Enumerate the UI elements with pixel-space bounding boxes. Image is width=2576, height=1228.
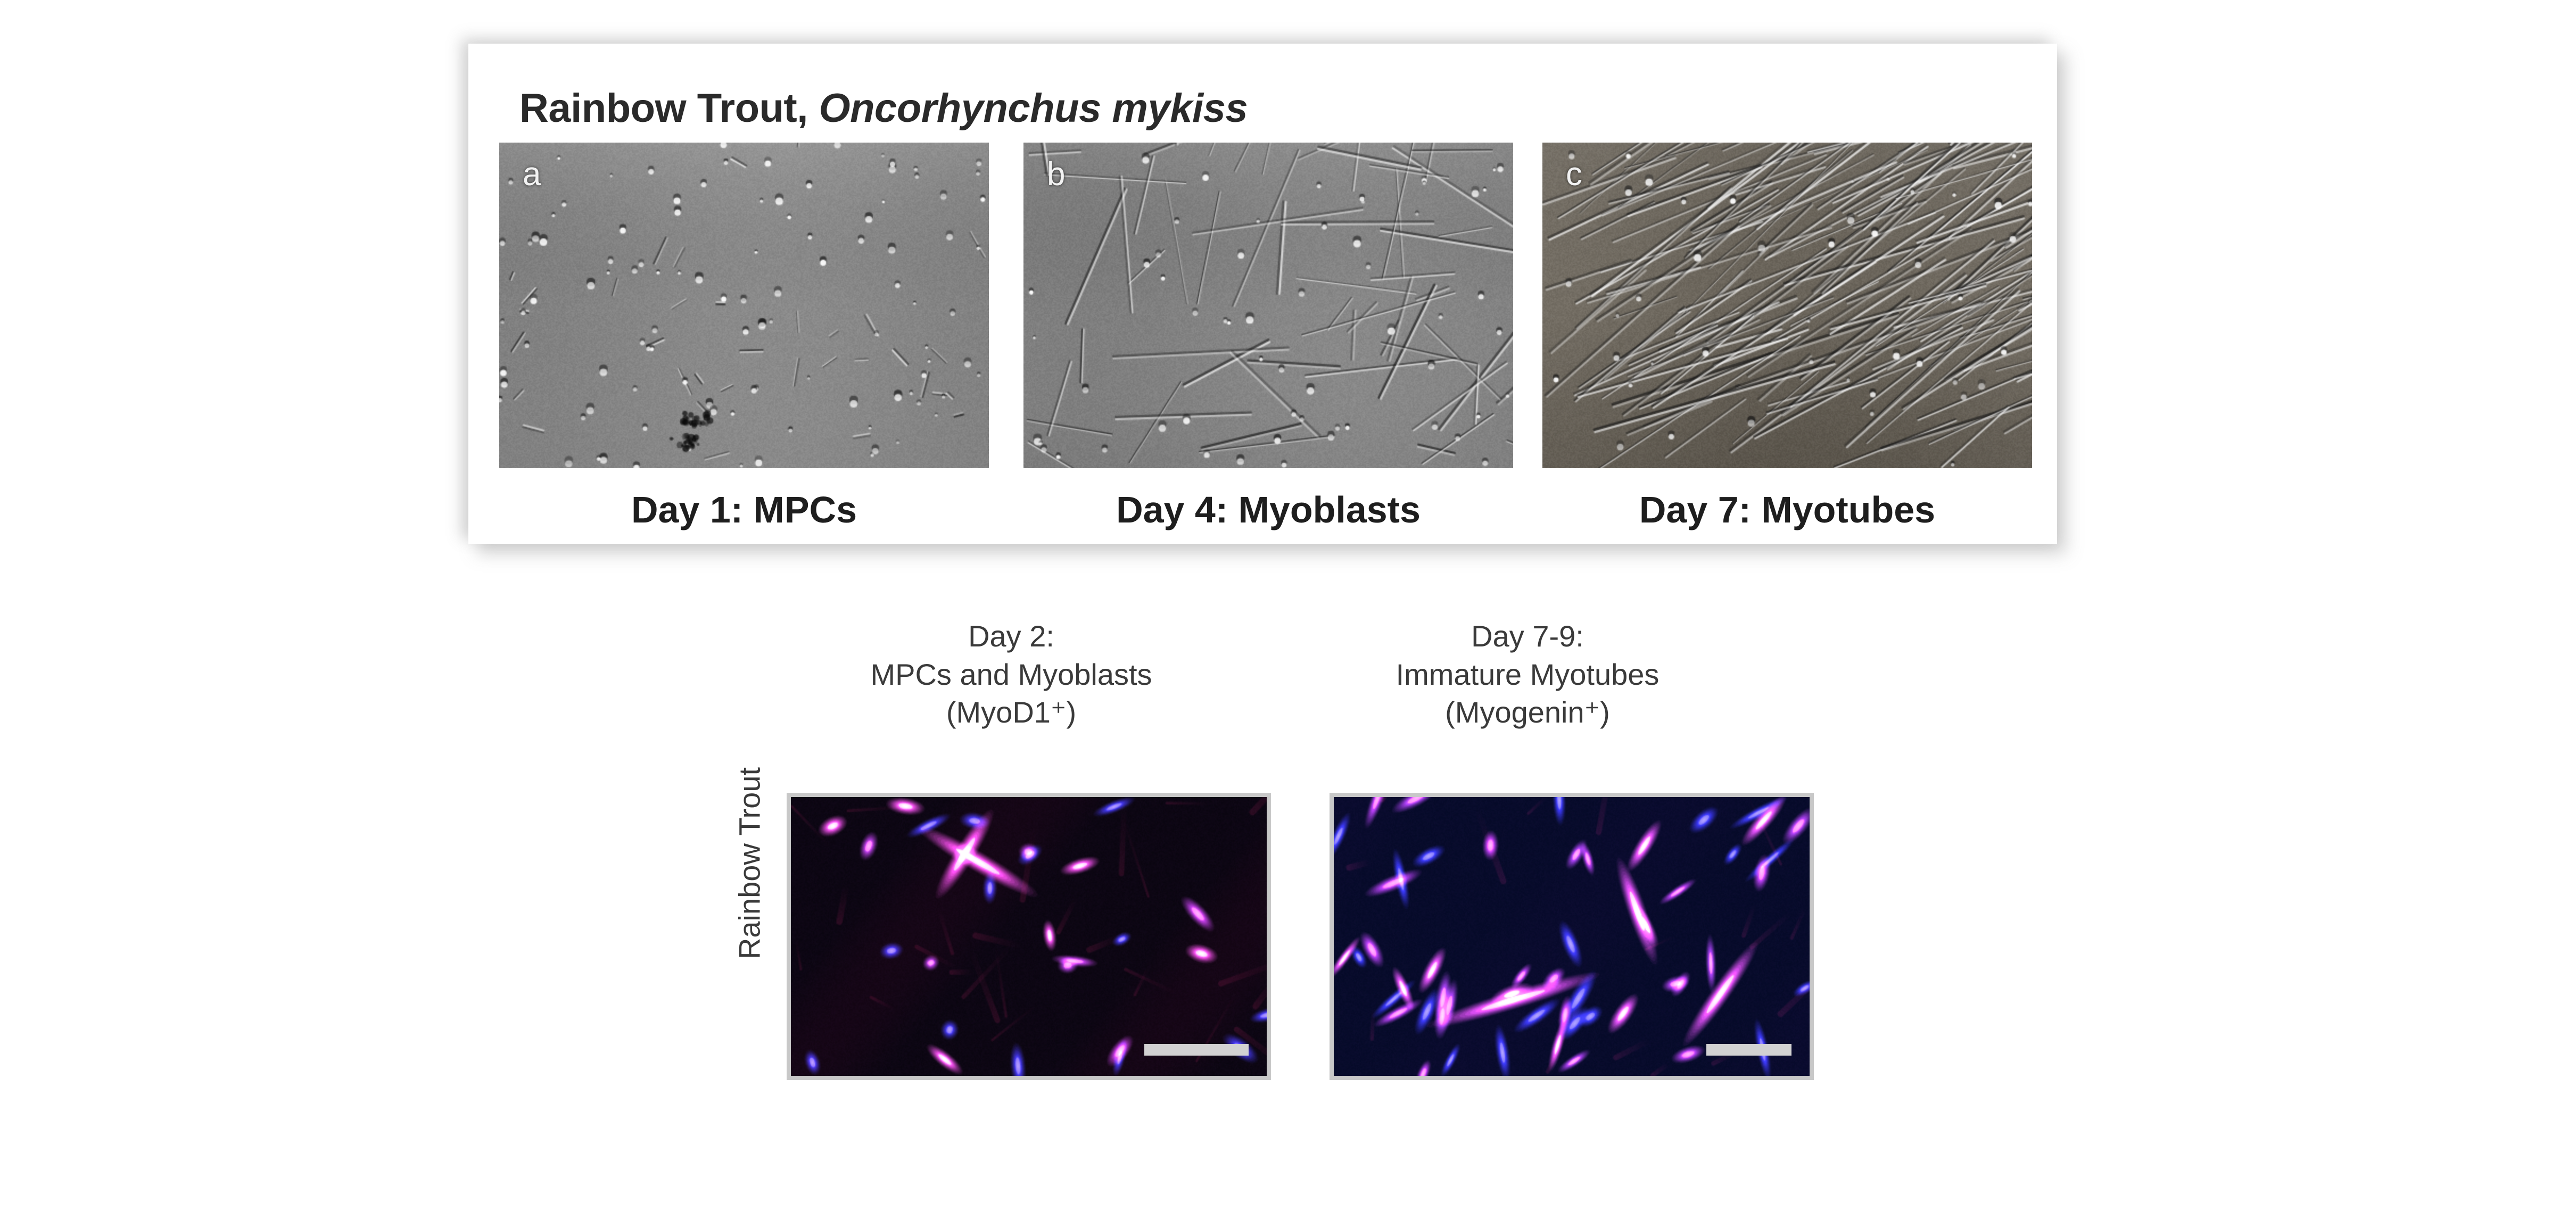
micrograph-panel-a: a: [499, 143, 989, 468]
scale-bar-myod1: [1144, 1044, 1249, 1056]
heading-day-7-9-line1: Day 7-9:: [1267, 617, 1788, 656]
card-title-species-name: Oncorhynchus mykiss: [819, 86, 1248, 131]
heading-day-7-9: Day 7-9: Immature Myotubes (Myogenin⁺): [1267, 617, 1788, 732]
heading-day-2-line1: Day 2:: [750, 617, 1272, 656]
panel-letter-c: c: [1566, 155, 1582, 193]
heading-day-2-marker: (MyoD1⁺): [750, 693, 1272, 732]
fluorescence-image-myod1: [791, 797, 1267, 1076]
card-title: Rainbow Trout, Oncorhynchus mykiss: [519, 85, 1248, 131]
fluorescence-image-myod1-wrapper: [791, 797, 1267, 1076]
heading-day-7-9-line2: Immature Myotubes: [1267, 656, 1788, 694]
card-title-common-name: Rainbow Trout,: [519, 86, 819, 131]
panel-letter-b: b: [1047, 155, 1065, 193]
micrograph-image-c: [1542, 143, 2032, 468]
micrograph-image-b: [1023, 143, 1513, 468]
fluorescence-panel-myogenin: [1330, 793, 1814, 1080]
fluorescence-image-myogenin-wrapper: [1334, 797, 1810, 1076]
caption-day-4: Day 4: Myoblasts: [1023, 488, 1513, 531]
panel-letter-a: a: [523, 155, 541, 193]
micrograph-image-a: [499, 143, 989, 468]
micrograph-panel-c: c: [1542, 143, 2032, 468]
heading-day-7-9-marker: (Myogenin⁺): [1267, 693, 1788, 732]
species-figure-card: Rainbow Trout, Oncorhynchus mykiss a b c…: [468, 44, 2057, 544]
scale-bar-myogenin: [1706, 1044, 1791, 1056]
fluorescence-panel-myod1: [787, 793, 1271, 1080]
micrograph-panel-b: b: [1023, 143, 1513, 468]
row-label-rainbow-trout: Rainbow Trout: [732, 752, 767, 975]
caption-day-7: Day 7: Myotubes: [1542, 488, 2032, 531]
fluorescence-image-myogenin: [1334, 797, 1810, 1076]
immunofluorescence-block: Day 2: MPCs and Myoblasts (MyoD1⁺) Day 7…: [665, 617, 1836, 1107]
caption-day-1: Day 1: MPCs: [499, 488, 989, 531]
phase-contrast-panel-row: a b c: [499, 143, 2032, 468]
heading-day-2: Day 2: MPCs and Myoblasts (MyoD1⁺): [750, 617, 1272, 732]
heading-day-2-line2: MPCs and Myoblasts: [750, 656, 1272, 694]
